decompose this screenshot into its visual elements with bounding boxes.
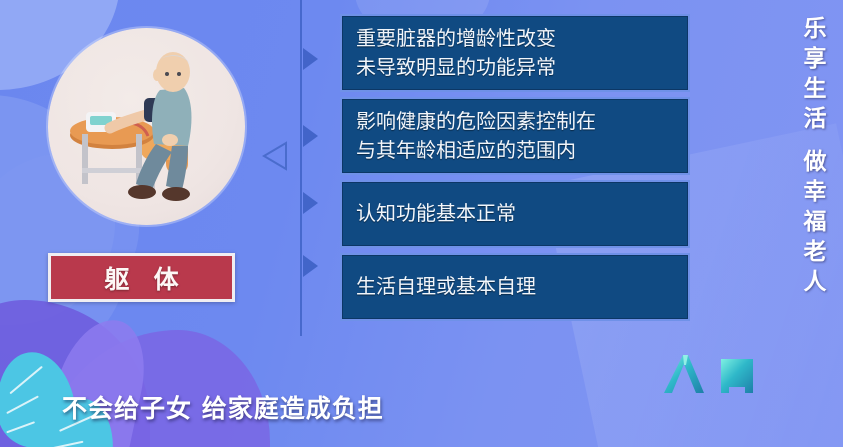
statement-list: 重要脏器的增龄性改变 未导致明显的功能异常 影响健康的危险因素控制在 与其年龄相… xyxy=(340,14,690,326)
bullet-arrow-icon-4 xyxy=(303,255,318,277)
leaf-vein xyxy=(50,441,84,447)
logo-ren-character-icon xyxy=(661,353,707,397)
bullet-arrow-icon-3 xyxy=(303,192,318,214)
statement-line: 重要脏器的增龄性改变 xyxy=(356,24,674,52)
leaf-vein xyxy=(6,395,39,414)
statement-box-4[interactable]: 生活自理或基本自理 xyxy=(340,253,690,321)
program-logo xyxy=(661,353,757,397)
vertical-divider-line xyxy=(300,0,302,336)
illustration-circle xyxy=(48,28,245,225)
bullet-arrow-icon-2 xyxy=(303,125,318,147)
statement-box-2[interactable]: 影响健康的危险因素控制在 与其年龄相适应的范围内 xyxy=(340,97,690,175)
leaf-vein xyxy=(9,366,42,395)
hollow-left-triangle-icon xyxy=(262,140,284,170)
bullet-arrow-icon-1 xyxy=(303,48,318,70)
statement-line: 生活自理或基本自理 xyxy=(356,272,674,300)
subtitle-caption: 不会给子女 给家庭造成负担 xyxy=(62,389,384,425)
vertical-slogan: 乐享生活 做幸福老人 xyxy=(795,16,829,306)
statement-box-1[interactable]: 重要脏器的增龄性改变 未导致明显的功能异常 xyxy=(340,14,690,92)
statement-line: 未导致明显的功能异常 xyxy=(356,53,674,81)
elderly-man-blood-pressure-icon xyxy=(48,28,245,225)
statement-line: 与其年龄相适应的范围内 xyxy=(356,136,674,164)
body-category-label: 躯 体 xyxy=(95,260,187,296)
leaf-vein xyxy=(6,421,35,433)
slide-canvas: 躯 体 重要脏器的增龄性改变 未导致明显的功能异常 影响健康的危险因素控制在 与… xyxy=(0,0,843,447)
body-category-badge: 躯 体 xyxy=(48,253,235,302)
statement-line: 认知功能基本正常 xyxy=(356,199,674,227)
logo-kou-character-icon xyxy=(717,353,757,397)
statement-line: 影响健康的危险因素控制在 xyxy=(356,107,674,135)
statement-box-3[interactable]: 认知功能基本正常 xyxy=(340,180,690,248)
